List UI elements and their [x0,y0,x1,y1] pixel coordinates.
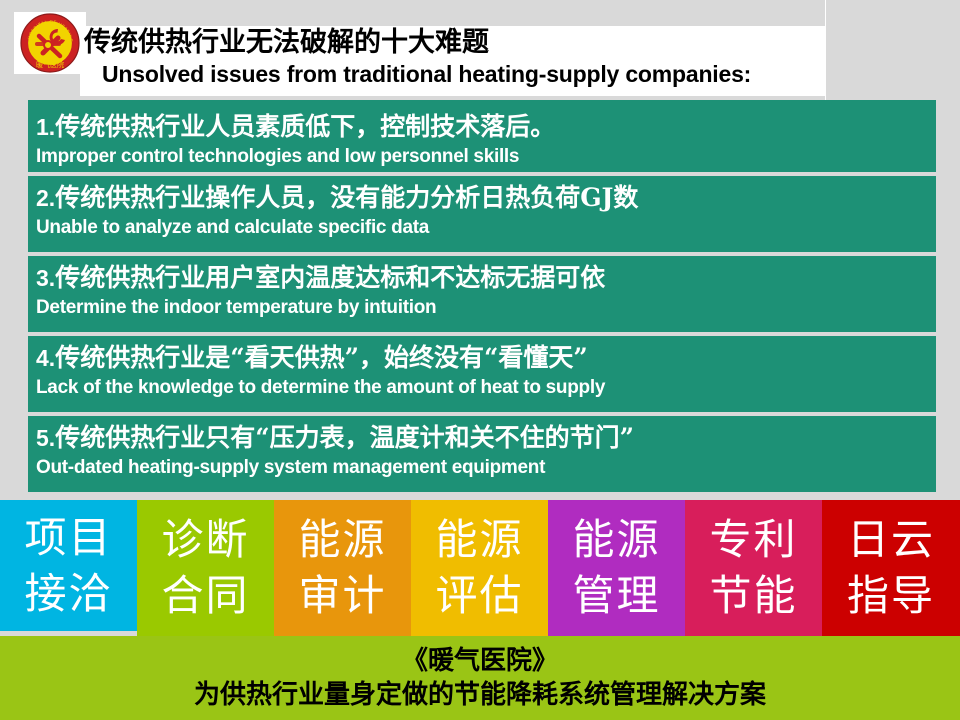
footer-subtitle: 为供热行业量身定做的节能降耗系统管理解决方案 [194,678,766,712]
issue-item-4: 4.传统供热行业是“看天供热”，始终没有“看懂天” Lack of the kn… [28,336,936,412]
issue-title-cn-5: 5.传统供热行业只有“压力表，温度计和关不住的节门” [36,421,936,455]
process-block-1-line2: 合同 [161,568,249,624]
issue-item-5: 5.传统供热行业只有“压力表，温度计和关不住的节门” Out-dated hea… [28,416,936,492]
process-block-0-line2: 接洽 [24,566,112,622]
issue-item-3: 3.传统供热行业用户室内温度达标和不达标无据可依 Determine the i… [28,256,936,332]
issue-number-1: 1. [36,114,55,140]
issue-text-cn-3: 传统供热行业用户室内温度达标和不达标无据可依 [55,263,605,292]
issue-text-en-1: Improper control technologies and low pe… [36,144,936,169]
title-card: 传统供热行业无法破解的十大难题 Unsolved issues from tra… [80,26,825,96]
issue-number-4: 4. [36,345,55,371]
issue-list: 1.传统供热行业人员素质低下，控制技术落后。 Improper control … [28,100,936,496]
process-block-daily-guidance[interactable]: 日云 指导 [822,500,960,636]
process-block-0-line1: 项目 [24,510,112,566]
process-block-strip: 项目 接洽 诊断 合同 能源 审计 能源 评估 能源 管理 专利 节能 日云 指… [0,500,960,636]
issue-text-en-4: Lack of the knowledge to determine the a… [36,375,936,400]
company-logo: HOSPITAL OF HEATING SYSTEM 暖气医院 [14,12,86,74]
issue-title-cn-2: 2.传统供热行业操作人员，没有能力分析日热负荷GJ数 [36,181,936,215]
issue-title-cn-4: 4.传统供热行业是“看天供热”，始终没有“看懂天” [36,341,936,375]
slide-header: HOSPITAL OF HEATING SYSTEM 暖气医院 传统供热行业无法… [0,0,960,100]
issue-text-cn-4: 传统供热行业是“看天供热”，始终没有“看懂天” [55,343,588,372]
slide-footer: 《暖气医院》 为供热行业量身定做的节能降耗系统管理解决方案 [0,636,960,720]
issue-number-2: 2. [36,185,55,211]
process-block-diagnosis-contract[interactable]: 诊断 合同 [137,500,274,636]
process-block-3-line2: 评估 [435,568,523,624]
issue-number-3: 3. [36,265,55,291]
page-title-en: Unsolved issues from traditional heating… [102,59,825,89]
issue-text-cn-5: 传统供热行业只有“压力表，温度计和关不住的节门” [55,423,634,452]
process-block-project-contact[interactable]: 项目 接洽 [0,500,137,631]
issue-title-cn-1: 1.传统供热行业人员素质低下，控制技术落后。 [36,110,936,144]
process-block-6-line2: 指导 [847,568,935,624]
process-block-energy-management[interactable]: 能源 管理 [548,500,685,636]
process-block-6-line1: 日云 [847,512,935,568]
issue-title-cn-3: 3.传统供热行业用户室内温度达标和不达标无据可依 [36,261,936,295]
process-block-4-line2: 管理 [572,568,660,624]
issue-number-5: 5. [36,425,55,451]
process-block-2-line2: 审计 [298,568,386,624]
process-block-5-line2: 节能 [709,568,797,624]
footer-title: 《暖气医院》 [402,644,558,678]
process-block-energy-assessment[interactable]: 能源 评估 [411,500,548,636]
svg-text:暖气医院: 暖气医院 [36,60,64,69]
issue-text-cn-1: 传统供热行业人员素质低下，控制技术落后。 [55,112,555,141]
process-block-3-line1: 能源 [435,512,523,568]
issue-item-1: 1.传统供热行业人员素质低下，控制技术落后。 Improper control … [28,100,936,172]
process-block-5-line1: 专利 [709,512,797,568]
process-block-1-line1: 诊断 [161,512,249,568]
process-block-energy-audit[interactable]: 能源 审计 [274,500,411,636]
issue-text-en-5: Out-dated heating-supply system manageme… [36,455,936,480]
heating-hospital-emblem-icon: HOSPITAL OF HEATING SYSTEM 暖气医院 [14,12,86,74]
issue-text-cn-2: 传统供热行业操作人员，没有能力分析日热负荷GJ数 [55,183,638,212]
process-block-2-line1: 能源 [298,512,386,568]
process-block-patent-energy-saving[interactable]: 专利 节能 [685,500,822,636]
page-title-cn: 传统供热行业无法破解的十大难题 [84,27,825,59]
issue-text-en-3: Determine the indoor temperature by intu… [36,295,936,320]
process-block-4-line1: 能源 [572,512,660,568]
issue-text-en-2: Unable to analyze and calculate specific… [36,215,936,240]
issue-item-2: 2.传统供热行业操作人员，没有能力分析日热负荷GJ数 Unable to ana… [28,176,936,252]
